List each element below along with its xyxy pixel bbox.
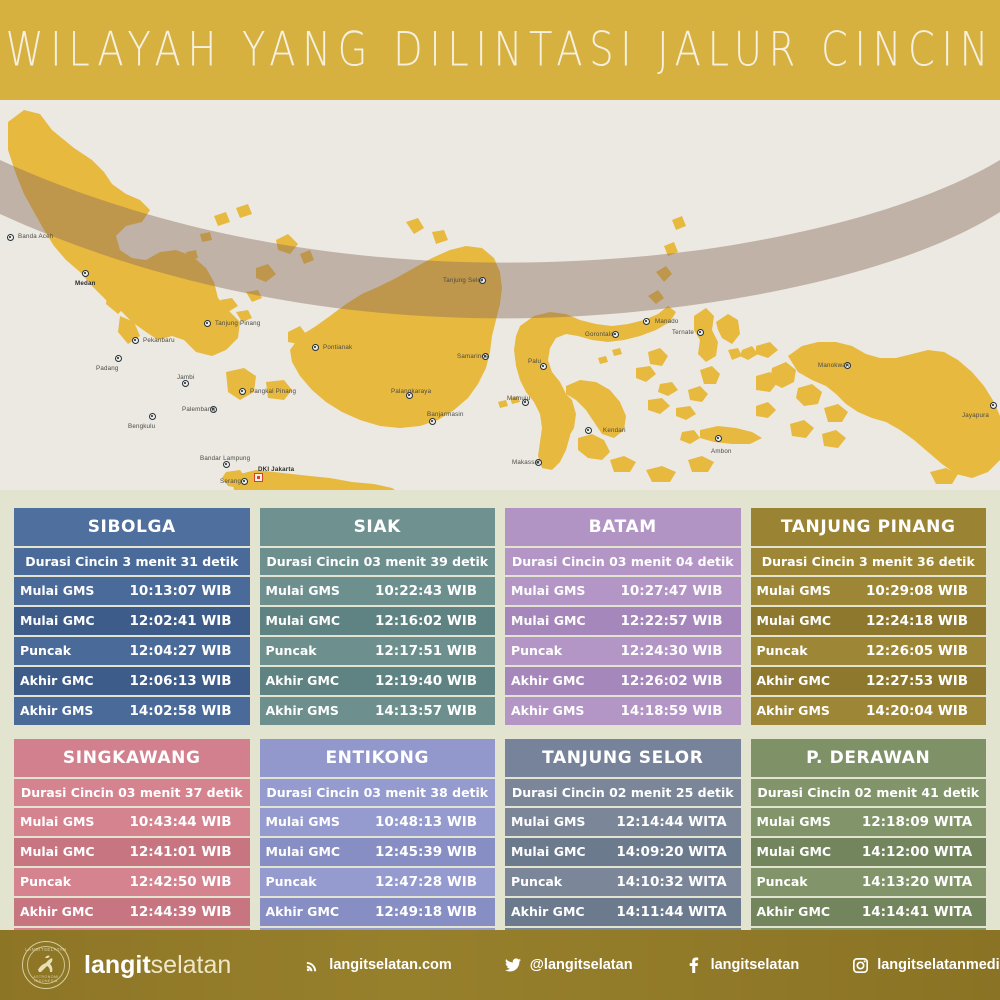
row-value: 14:20:04 WIB [854,697,986,725]
row-label: Puncak [751,637,855,665]
row-value: 14:18:59 WIB [609,697,741,725]
row-value: 12:19:40 WIB [363,667,495,695]
map-city-label: Bandar Lampung [200,455,250,462]
timing-card: TANJUNG PINANGDurasi Cincin 3 menit 36 d… [751,508,987,727]
seal-top-text: LANGITSELATAN [23,947,69,952]
timing-card: TANJUNG SELORDurasi Cincin 02 menit 25 d… [505,739,741,958]
row-label: Mulai GMC [260,607,364,635]
row-value: 10:29:08 WIB [854,577,986,605]
row-value: 12:24:30 WIB [609,637,741,665]
indonesia-map: Banda AcehMedanPekanbaruTanjung PinangPa… [0,100,1000,490]
city-marker-icon [223,461,230,468]
footer-link[interactable]: langitselatan [685,956,800,974]
row-value: 10:43:44 WIB [118,808,250,836]
table-row: Mulai GMC12:45:39 WIB [260,838,496,866]
row-label: Puncak [505,637,609,665]
row-label: Akhir GMS [260,697,364,725]
row-label: Mulai GMS [14,577,118,605]
brand[interactable]: LANGITSELATAN ASTRONOMI INDONESIA langit… [22,941,231,989]
table-row: Akhir GMC12:27:53 WIB [751,667,987,695]
row-value: 12:44:39 WIB [118,898,250,926]
table-row: Akhir GMC12:49:18 WIB [260,898,496,926]
city-marker-icon [115,355,122,362]
footer-link-label: @langitselatan [530,957,633,973]
city-marker-icon [643,318,650,325]
map-city-label: Samarinda [457,353,489,360]
row-label: Puncak [14,637,118,665]
map-city-label: Makassar [512,459,540,466]
footer-link[interactable]: @langitselatan [504,956,633,974]
table-row: Puncak12:42:50 WIB [14,868,250,896]
row-value: 14:11:44 WITA [609,898,741,926]
card-duration: Durasi Cincin 3 menit 36 detik [751,548,987,575]
row-label: Puncak [751,868,855,896]
table-row: Akhir GMC12:26:02 WIB [505,667,741,695]
timing-card: SINGKAWANGDurasi Cincin 03 menit 37 deti… [14,739,250,958]
map-city-label: Manokwari [818,362,850,369]
row-value: 12:27:53 WIB [854,667,986,695]
capital-marker-icon [254,473,263,482]
card-duration: Durasi Cincin 02 menit 25 detik [505,779,741,806]
map-city-label: Banjarmasin [427,411,464,418]
table-row: Mulai GMS12:14:44 WITA [505,808,741,836]
row-label: Mulai GMC [14,607,118,635]
city-marker-icon [82,270,89,277]
row-label: Mulai GMS [505,808,609,836]
card-title: BATAM [505,508,741,546]
map-city-label: Palembang [182,406,215,413]
row-value: 14:14:41 WITA [854,898,986,926]
brand-name: langitselatan [84,951,231,980]
brand-bold: langit [84,951,151,979]
city-marker-icon [585,427,592,434]
card-duration: Durasi Cincin 03 menit 04 detik [505,548,741,575]
row-value: 14:13:57 WIB [363,697,495,725]
card-title: TANJUNG PINANG [751,508,987,546]
map-svg [0,100,1000,490]
city-marker-icon [312,344,319,351]
city-marker-icon [697,329,704,336]
row-label: Mulai GMC [751,607,855,635]
row-value: 12:26:05 WIB [854,637,986,665]
footer-link[interactable]: langitselatan.com [303,956,451,974]
table-row: Akhir GMS14:13:57 WIB [260,697,496,725]
map-city-label: Gorontalo [585,331,614,338]
row-label: Puncak [14,868,118,896]
city-marker-icon [241,478,248,485]
row-label: Mulai GMS [751,577,855,605]
table-row: Akhir GMC12:19:40 WIB [260,667,496,695]
row-value: 14:09:20 WITA [609,838,741,866]
row-value: 12:26:02 WIB [609,667,741,695]
map-city-label: Pontianak [323,344,352,351]
row-label: Akhir GMS [505,697,609,725]
table-row: Puncak12:26:05 WIB [751,637,987,665]
city-marker-icon [149,413,156,420]
table-row: Mulai GMS10:13:07 WIB [14,577,250,605]
table-row: Mulai GMC12:24:18 WIB [751,607,987,635]
table-row: Mulai GMS10:43:44 WIB [14,808,250,836]
table-row: Akhir GMS14:18:59 WIB [505,697,741,725]
table-row: Puncak12:24:30 WIB [505,637,741,665]
timing-card: P. DERAWANDurasi Cincin 02 menit 41 deti… [751,739,987,958]
row-label: Akhir GMC [260,667,364,695]
table-row: Mulai GMC14:09:20 WITA [505,838,741,866]
map-city-label: Padang [96,365,119,372]
timing-card: BATAMDurasi Cincin 03 menit 04 detikMula… [505,508,741,727]
row-label: Akhir GMS [14,697,118,725]
row-value: 12:06:13 WIB [118,667,250,695]
brand-light: selatan [151,951,232,979]
table-row: Mulai GMS10:27:47 WIB [505,577,741,605]
row-value: 12:02:41 WIB [118,607,250,635]
map-city-label: Pekanbaru [143,337,175,344]
footer-link[interactable]: langitselatanmedia [851,956,1000,974]
footer-links: langitselatan.com@langitselatanlangitsel… [303,956,1000,974]
timing-card: SIAKDurasi Cincin 03 menit 39 detikMulai… [260,508,496,727]
row-label: Mulai GMC [505,607,609,635]
row-value: 12:47:28 WIB [363,868,495,896]
row-label: Mulai GMS [260,577,364,605]
row-label: Akhir GMC [505,667,609,695]
card-title: TANJUNG SELOR [505,739,741,777]
card-duration: Durasi Cincin 02 menit 41 detik [751,779,987,806]
row-label: Akhir GMC [14,667,118,695]
row-label: Mulai GMC [14,838,118,866]
map-city-label: Medan [75,280,96,287]
map-city-label: Bengkulu [128,423,155,430]
row-label: Akhir GMC [751,667,855,695]
row-value: 12:18:09 WITA [854,808,986,836]
city-marker-icon [239,388,246,395]
table-row: Akhir GMC12:44:39 WIB [14,898,250,926]
twitter-icon [504,956,522,974]
map-city-label: Serang [220,478,241,485]
card-duration: Durasi Cincin 03 menit 39 detik [260,548,496,575]
row-value: 12:17:51 WIB [363,637,495,665]
title-bar: WILAYAH YANG DILINTASI JALUR CINCIN [0,0,1000,100]
row-value: 12:24:18 WIB [854,607,986,635]
table-row: Akhir GMC14:11:44 WITA [505,898,741,926]
footer-link-label: langitselatanmedia [877,957,1000,973]
row-label: Akhir GMC [260,898,364,926]
row-label: Mulai GMS [260,808,364,836]
footer-bar: LANGITSELATAN ASTRONOMI INDONESIA langit… [0,930,1000,1000]
map-city-label: DKI Jakarta [258,466,294,473]
table-row: Akhir GMS14:02:58 WIB [14,697,250,725]
row-label: Mulai GMC [505,838,609,866]
table-row: Puncak12:17:51 WIB [260,637,496,665]
facebook-icon [685,956,703,974]
row-value: 12:41:01 WIB [118,838,250,866]
row-label: Mulai GMS [751,808,855,836]
table-row: Mulai GMS10:29:08 WIB [751,577,987,605]
row-value: 10:22:43 WIB [363,577,495,605]
row-value: 14:02:58 WIB [118,697,250,725]
city-marker-icon [429,418,436,425]
card-duration: Durasi Cincin 03 menit 38 detik [260,779,496,806]
row-value: 12:16:02 WIB [363,607,495,635]
map-city-label: Kendari [603,427,626,434]
table-row: Mulai GMS10:22:43 WIB [260,577,496,605]
row-label: Akhir GMS [751,697,855,725]
langitselatan-seal-icon: LANGITSELATAN ASTRONOMI INDONESIA [22,941,70,989]
card-duration: Durasi Cincin 3 menit 31 detik [14,548,250,575]
table-row: Mulai GMC12:41:01 WIB [14,838,250,866]
map-city-label: Banda Aceh [18,233,53,240]
row-value: 14:13:20 WITA [854,868,986,896]
table-row: Mulai GMC12:16:02 WIB [260,607,496,635]
row-label: Mulai GMS [505,577,609,605]
table-row: Mulai GMC12:22:57 WIB [505,607,741,635]
map-city-label: Tanjung Pinang [215,320,260,327]
table-row: Akhir GMS14:20:04 WIB [751,697,987,725]
city-marker-icon [204,320,211,327]
map-city-label: Tanjung Selor [443,277,483,284]
infographic-page: WILAYAH YANG DILINTASI JALUR CINCIN [0,0,1000,1000]
timing-card: ENTIKONGDurasi Cincin 03 menit 38 detikM… [260,739,496,958]
map-city-label: Ambon [711,448,732,455]
map-city-label: Mamuju [507,395,530,402]
table-row: Mulai GMS10:48:13 WIB [260,808,496,836]
row-label: Akhir GMC [14,898,118,926]
table-row: Puncak14:13:20 WITA [751,868,987,896]
table-row: Mulai GMS12:18:09 WITA [751,808,987,836]
row-label: Mulai GMS [14,808,118,836]
row-label: Akhir GMC [751,898,855,926]
row-value: 10:48:13 WIB [363,808,495,836]
table-row: Akhir GMC12:06:13 WIB [14,667,250,695]
horse-rider-icon [34,954,58,976]
row-value: 12:45:39 WIB [363,838,495,866]
row-value: 12:49:18 WIB [363,898,495,926]
city-marker-icon [7,234,14,241]
city-marker-icon [990,402,997,409]
city-marker-icon [182,380,189,387]
row-label: Puncak [260,868,364,896]
row-value: 12:14:44 WITA [609,808,741,836]
footer-link-label: langitselatan.com [329,957,451,973]
map-city-label: Jambi [177,374,195,381]
row-value: 14:10:32 WITA [609,868,741,896]
map-city-label: Palangkaraya [391,388,431,395]
card-title: SINGKAWANG [14,739,250,777]
instagram-icon [851,956,869,974]
row-label: Puncak [260,637,364,665]
map-city-label: Jayapura [962,412,989,419]
row-label: Akhir GMC [505,898,609,926]
table-row: Mulai GMC12:02:41 WIB [14,607,250,635]
card-duration: Durasi Cincin 03 menit 37 detik [14,779,250,806]
rss-icon [303,956,321,974]
row-label: Mulai GMC [751,838,855,866]
card-title: ENTIKONG [260,739,496,777]
row-value: 12:22:57 WIB [609,607,741,635]
row-label: Puncak [505,868,609,896]
seal-bottom-text: ASTRONOMI INDONESIA [23,975,69,983]
page-title: WILAYAH YANG DILINTASI JALUR CINCIN [5,23,994,77]
city-marker-icon [715,435,722,442]
footer-link-label: langitselatan [711,957,800,973]
city-timing-cards: SIBOLGADurasi Cincin 3 menit 31 detikMul… [0,490,1000,930]
table-row: Akhir GMC14:14:41 WITA [751,898,987,926]
card-title: SIBOLGA [14,508,250,546]
row-label: Mulai GMC [260,838,364,866]
table-row: Puncak12:47:28 WIB [260,868,496,896]
map-city-label: Ternate [672,329,694,336]
row-value: 10:27:47 WIB [609,577,741,605]
card-title: SIAK [260,508,496,546]
table-row: Mulai GMC14:12:00 WITA [751,838,987,866]
table-row: Puncak14:10:32 WITA [505,868,741,896]
row-value: 10:13:07 WIB [118,577,250,605]
row-value: 14:12:00 WITA [854,838,986,866]
timing-card: SIBOLGADurasi Cincin 3 menit 31 detikMul… [14,508,250,727]
table-row: Puncak12:04:27 WIB [14,637,250,665]
map-city-label: Pangkal Pinang [250,388,296,395]
city-marker-icon [132,337,139,344]
map-city-label: Manado [655,318,679,325]
row-value: 12:04:27 WIB [118,637,250,665]
card-title: P. DERAWAN [751,739,987,777]
row-value: 12:42:50 WIB [118,868,250,896]
map-city-label: Palu [528,358,541,365]
